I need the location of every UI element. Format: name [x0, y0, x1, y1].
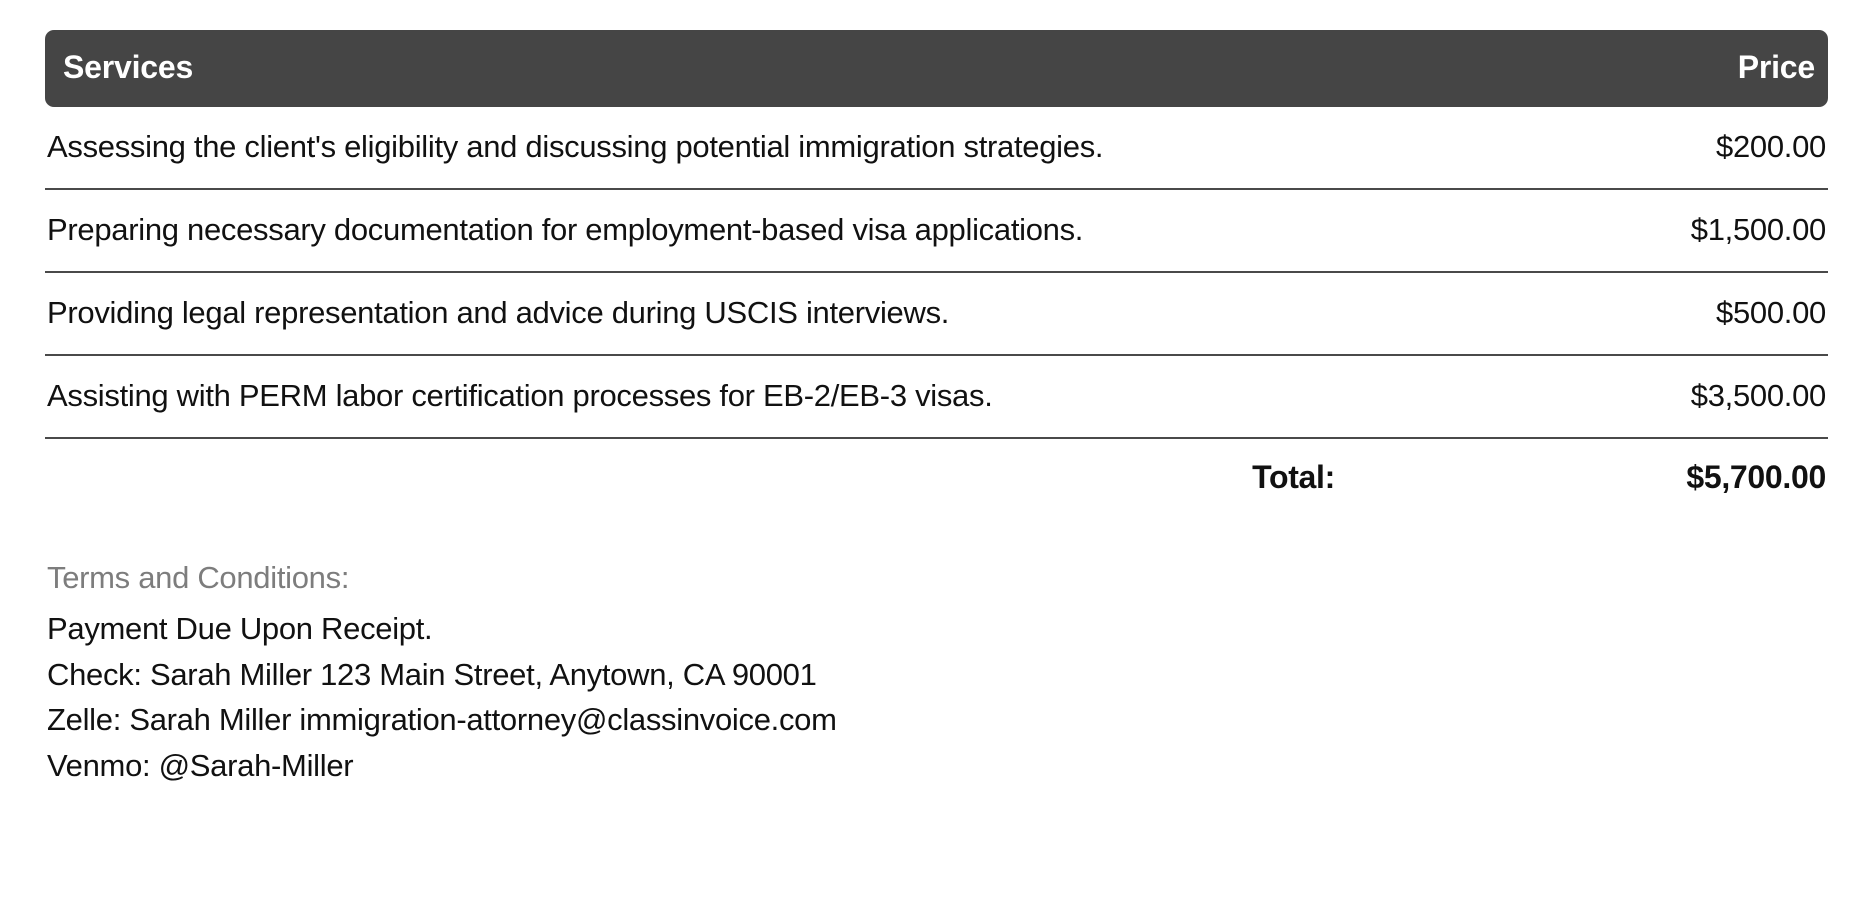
total-label: Total:	[45, 438, 1415, 496]
table-row: Providing legal representation and advic…	[45, 272, 1828, 355]
terms-line-zelle: Zelle: Sarah Miller immigration-attorney…	[47, 697, 1823, 743]
table-body: Assessing the client's eligibility and d…	[45, 107, 1828, 496]
service-description: Providing legal representation and advic…	[45, 272, 1415, 355]
services-price-table: Services Price Assessing the client's el…	[45, 30, 1828, 496]
terms-line-venmo: Venmo: @Sarah-Miller	[47, 743, 1823, 789]
table-header: Services Price	[45, 30, 1828, 107]
terms-and-conditions-section: Terms and Conditions: Payment Due Upon R…	[45, 560, 1823, 788]
column-header-price: Price	[1415, 30, 1828, 107]
total-row: Total: $5,700.00	[45, 438, 1828, 496]
service-description: Assisting with PERM labor certification …	[45, 355, 1415, 438]
terms-heading: Terms and Conditions:	[47, 560, 1823, 596]
terms-line-payment-due: Payment Due Upon Receipt.	[47, 606, 1823, 652]
total-amount: $5,700.00	[1415, 438, 1828, 496]
service-price: $1,500.00	[1415, 189, 1828, 272]
table-row: Preparing necessary documentation for em…	[45, 189, 1828, 272]
service-price: $200.00	[1415, 107, 1828, 189]
column-header-services: Services	[45, 30, 1415, 107]
service-description: Preparing necessary documentation for em…	[45, 189, 1415, 272]
invoice-services-section: Services Price Assessing the client's el…	[0, 30, 1868, 900]
terms-line-check: Check: Sarah Miller 123 Main Street, Any…	[47, 652, 1823, 698]
service-description: Assessing the client's eligibility and d…	[45, 107, 1415, 189]
table-row: Assessing the client's eligibility and d…	[45, 107, 1828, 189]
table-header-row: Services Price	[45, 30, 1828, 107]
service-price: $3,500.00	[1415, 355, 1828, 438]
table-row: Assisting with PERM labor certification …	[45, 355, 1828, 438]
service-price: $500.00	[1415, 272, 1828, 355]
